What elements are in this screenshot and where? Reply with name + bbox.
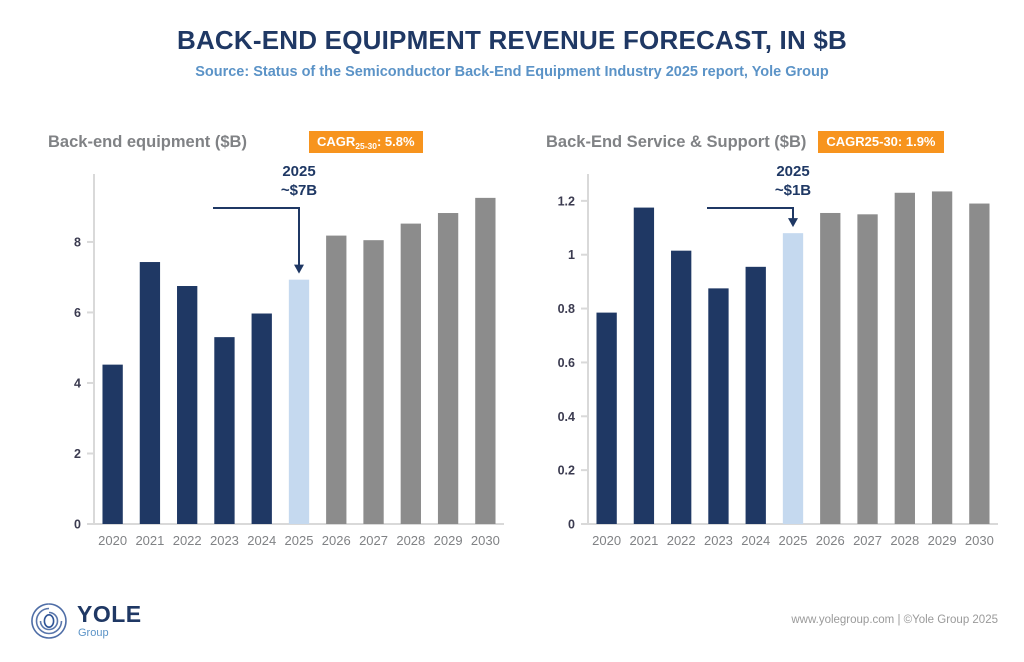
y-tick-label: 0.6 (558, 356, 575, 370)
chart-panel-service-support: Back-End Service & Support ($B) CAGR25-3… (512, 112, 1006, 582)
bar-2020 (102, 365, 122, 524)
x-tick-label: 2026 (322, 533, 351, 548)
y-tick-label: 0.4 (558, 410, 575, 424)
y-tick-label: 4 (74, 376, 81, 390)
yole-logo-subword: Group (78, 628, 142, 639)
y-tick-label: 1.2 (558, 194, 575, 208)
y-tick-label: 2 (74, 447, 81, 461)
x-tick-label: 2022 (173, 533, 202, 548)
bar-2023 (708, 288, 728, 524)
x-tick-label: 2028 (396, 533, 425, 548)
bar-2030 (475, 198, 495, 524)
annotation-arrowhead (788, 218, 798, 227)
x-tick-label: 2030 (965, 533, 994, 548)
bar-2027 (363, 240, 383, 524)
x-tick-label: 2027 (359, 533, 388, 548)
page-subtitle: Source: Status of the Semiconductor Back… (0, 65, 1024, 81)
yole-spiral-icon (28, 600, 70, 642)
bar-2022 (671, 251, 691, 524)
bar-2026 (326, 236, 346, 524)
yole-logo-word: YOLE (77, 603, 142, 626)
page-footer: YOLE Group www.yolegroup.com | ©Yole Gro… (0, 590, 1024, 662)
yole-group-logo: YOLE Group (28, 600, 142, 642)
x-tick-label: 2025 (779, 533, 808, 548)
y-tick-label: 6 (74, 306, 81, 320)
bar-2020 (596, 313, 616, 524)
bar-2021 (634, 208, 654, 524)
x-tick-label: 2026 (816, 533, 845, 548)
bar-2021 (140, 262, 160, 524)
x-tick-label: 2024 (247, 533, 276, 548)
annotation-elbow-line (707, 208, 793, 225)
x-tick-label: 2021 (629, 533, 658, 548)
bar-2025 (783, 233, 803, 524)
right-chart-plot: 00.20.40.60.811.220202021202220232024202… (512, 112, 1006, 582)
charts-container: Back-end equipment ($B) CAGR25-30: 5.8% … (0, 112, 1024, 582)
x-tick-label: 2023 (704, 533, 733, 548)
x-tick-label: 2022 (667, 533, 696, 548)
y-tick-label: 0 (568, 518, 575, 532)
annotation-value: ~$1B (775, 182, 811, 199)
bar-2026 (820, 213, 840, 524)
y-tick-label: 8 (74, 235, 81, 249)
bar-2024 (746, 267, 766, 524)
bar-2029 (438, 213, 458, 524)
plot-left-svg: 0246820202021202220232024202520262027202… (18, 112, 512, 582)
annotation-year: 2025 (282, 163, 315, 180)
annotation-elbow-line (213, 208, 299, 272)
x-tick-label: 2020 (592, 533, 621, 548)
plot-right-svg: 00.20.40.60.811.220202021202220232024202… (512, 112, 1006, 582)
annotation-value: ~$7B (281, 182, 317, 199)
bar-2030 (969, 204, 989, 524)
bar-2023 (214, 337, 234, 524)
y-tick-label: 0.2 (558, 464, 575, 478)
bar-2024 (252, 314, 272, 524)
y-tick-label: 0 (74, 518, 81, 532)
bar-2022 (177, 286, 197, 524)
footer-credit: www.yolegroup.com | ©Yole Group 2025 (791, 614, 998, 626)
x-tick-label: 2023 (210, 533, 239, 548)
x-tick-label: 2020 (98, 533, 127, 548)
left-chart-plot: 0246820202021202220232024202520262027202… (18, 112, 512, 582)
x-tick-label: 2029 (434, 533, 463, 548)
y-tick-label: 0.8 (558, 302, 575, 316)
x-tick-label: 2029 (928, 533, 957, 548)
yole-logo-text: YOLE Group (77, 603, 142, 639)
chart-panel-back-end-equipment: Back-end equipment ($B) CAGR25-30: 5.8% … (18, 112, 512, 582)
x-tick-label: 2025 (285, 533, 314, 548)
annotation-year: 2025 (776, 163, 809, 180)
page-header: BACK-END EQUIPMENT REVENUE FORECAST, IN … (0, 0, 1024, 81)
x-tick-label: 2024 (741, 533, 770, 548)
bar-2029 (932, 191, 952, 524)
bar-2025 (289, 280, 309, 524)
x-tick-label: 2028 (890, 533, 919, 548)
y-tick-label: 1 (568, 248, 575, 262)
x-tick-label: 2021 (135, 533, 164, 548)
bar-2028 (401, 224, 421, 524)
x-tick-label: 2030 (471, 533, 500, 548)
x-tick-label: 2027 (853, 533, 882, 548)
bar-2027 (857, 214, 877, 524)
page-title: BACK-END EQUIPMENT REVENUE FORECAST, IN … (0, 26, 1024, 55)
bar-2028 (895, 193, 915, 524)
annotation-arrowhead (294, 265, 304, 274)
